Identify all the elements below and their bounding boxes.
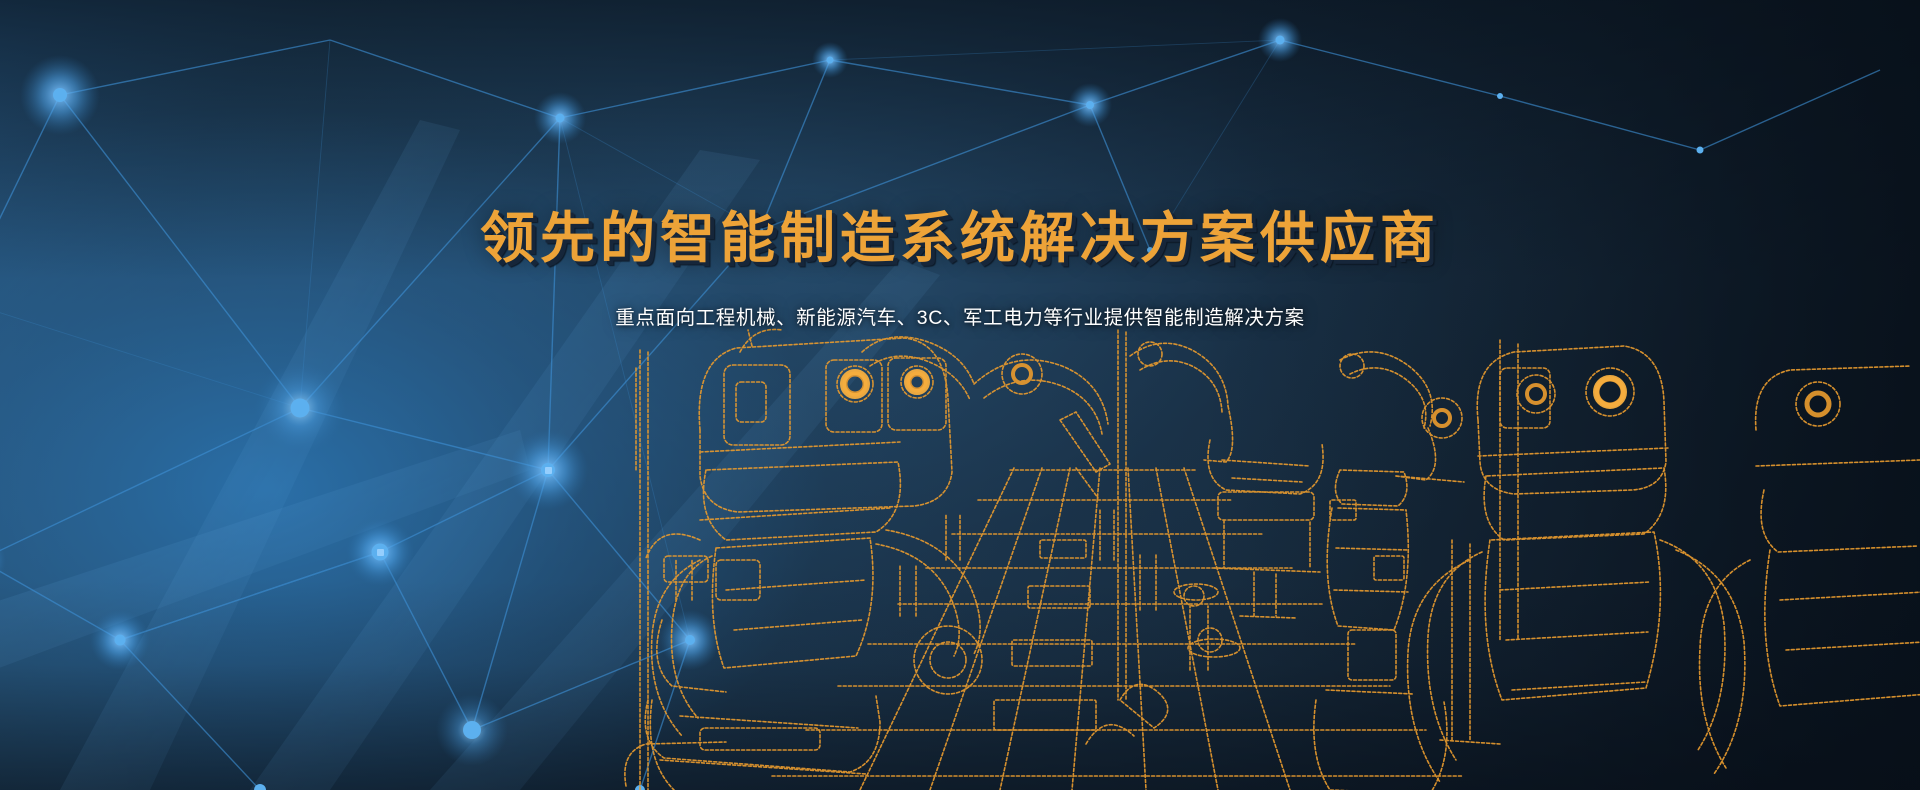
page-subtitle: 重点面向工程机械、新能源汽车、3C、军工电力等行业提供智能制造解决方案 <box>0 301 1920 330</box>
hero-banner: 领先的智能制造系统解决方案供应商 重点面向工程机械、新能源汽车、3C、军工电力等… <box>0 0 1920 790</box>
page-title: 领先的智能制造系统解决方案供应商 <box>0 206 1920 271</box>
robot-line-art-graphic <box>0 0 1920 790</box>
hero-text-block: 领先的智能制造系统解决方案供应商 重点面向工程机械、新能源汽车、3C、军工电力等… <box>0 206 1920 330</box>
